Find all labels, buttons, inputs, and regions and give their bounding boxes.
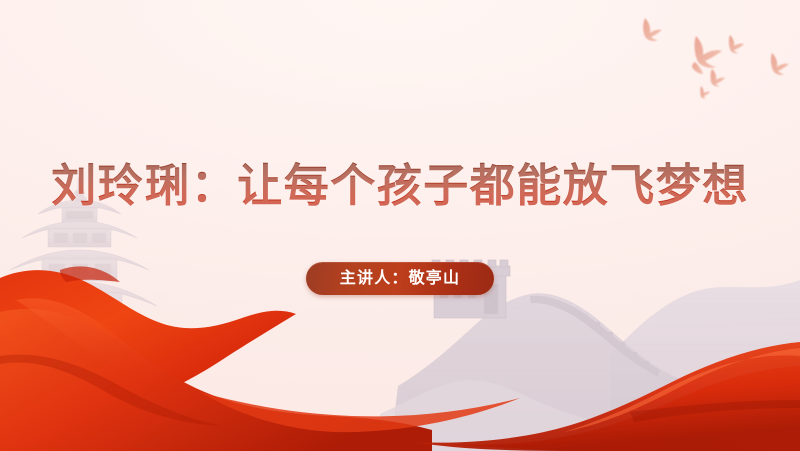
presenter-badge: 主讲人：敬亭山 xyxy=(306,262,494,295)
flying-birds-icon xyxy=(600,6,800,116)
page-title: 刘玲琍：让每个孩子都能放飞梦想 xyxy=(51,161,749,211)
presenter-badge-container: 主讲人：敬亭山 xyxy=(0,262,800,295)
title-container: 刘玲琍：让每个孩子都能放飞梦想 xyxy=(0,131,800,242)
title-slide: 刘玲琍：让每个孩子都能放飞梦想 主讲人：敬亭山 xyxy=(0,0,800,451)
